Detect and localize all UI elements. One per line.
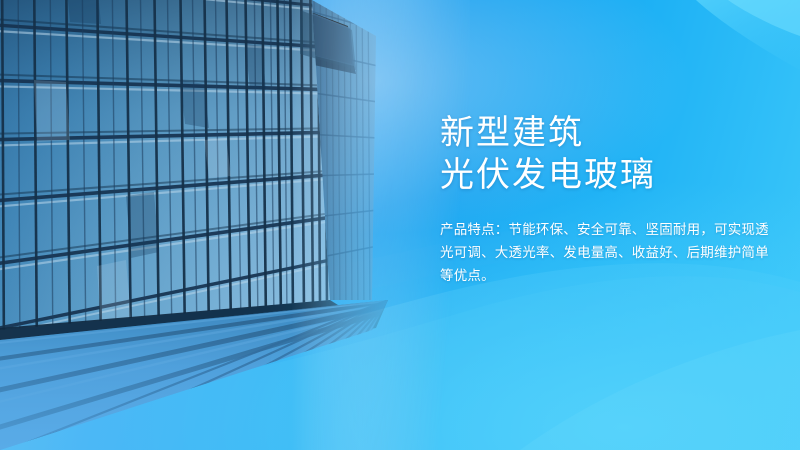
banner-title-line-2: 光伏发电玻璃 [440,154,780,196]
banner-text-block: 新型建筑 光伏发电玻璃 产品特点：节能环保、安全可靠、坚固耐用，可实现透光可调、… [440,112,780,287]
building-photo [0,0,470,450]
banner-description: 产品特点：节能环保、安全可靠、坚固耐用，可实现透光可调、大透光率、发电量高、收益… [440,218,770,287]
promo-banner: 新型建筑 光伏发电玻璃 产品特点：节能环保、安全可靠、坚固耐用，可实现透光可调、… [0,0,800,450]
banner-title-line-1: 新型建筑 [440,112,780,154]
